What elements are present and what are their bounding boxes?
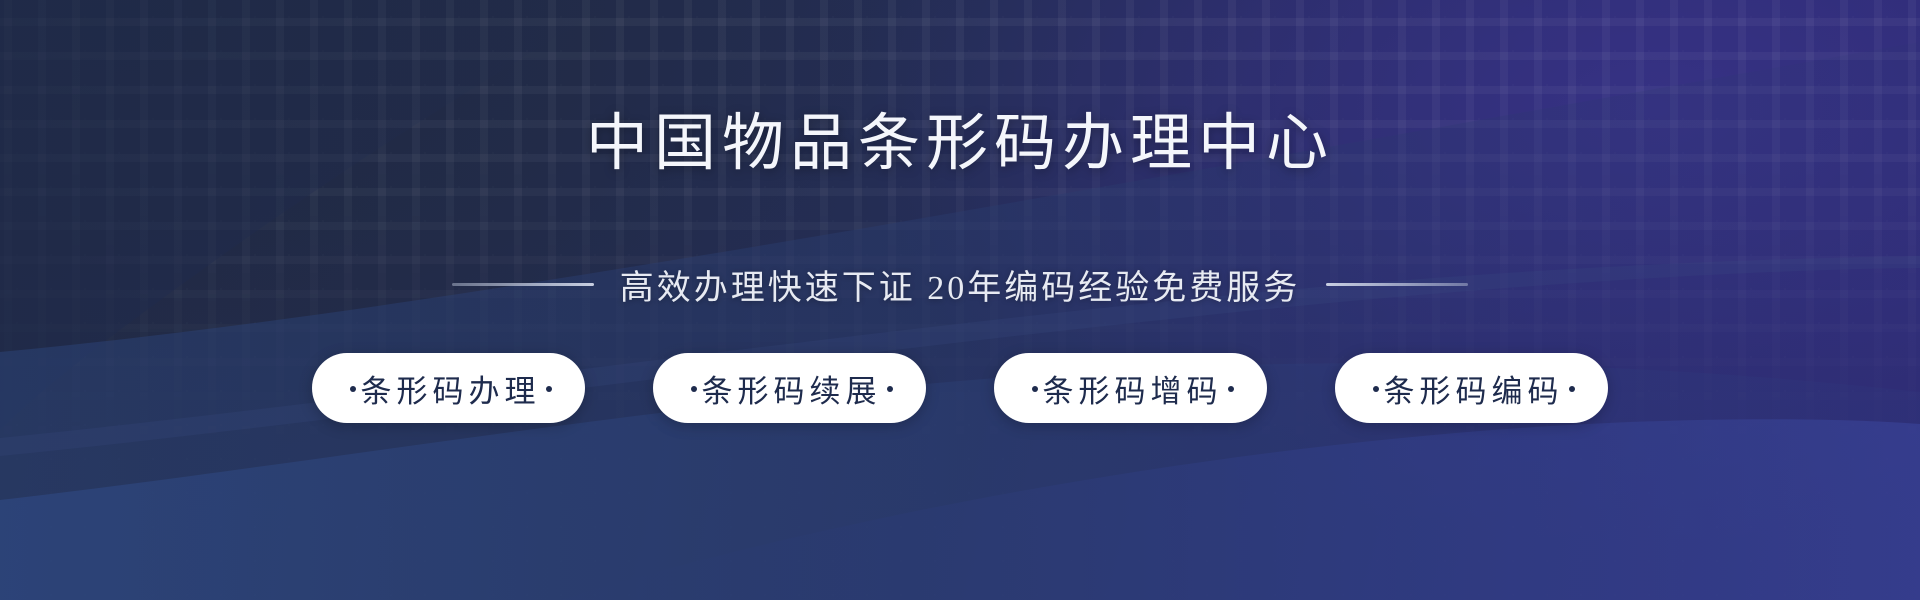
- bullet-dot-icon: [1032, 386, 1038, 392]
- banner-content: 中国物品条形码办理中心 高效办理快速下证 20年编码经验免费服务 条形码办理 条…: [0, 0, 1920, 600]
- service-pill-label: 条形码编码: [1384, 366, 1564, 411]
- pill-content: 条形码增码: [1025, 366, 1237, 411]
- divider-line-right: [1326, 283, 1468, 286]
- bullet-dot-icon: [887, 386, 893, 392]
- pill-content: 条形码编码: [1366, 366, 1578, 411]
- service-pill-label: 条形码续展: [702, 366, 882, 411]
- service-pill-barcode-add[interactable]: 条形码增码: [994, 353, 1267, 423]
- bullet-dot-icon: [1228, 386, 1234, 392]
- service-pill-barcode-apply[interactable]: 条形码办理: [312, 353, 585, 423]
- bullet-dot-icon: [1373, 386, 1379, 392]
- service-pill-label: 条形码办理: [361, 366, 541, 411]
- service-pill-barcode-encode[interactable]: 条形码编码: [1335, 353, 1608, 423]
- bullet-dot-icon: [350, 386, 356, 392]
- subtitle-row: 高效办理快速下证 20年编码经验免费服务: [452, 260, 1469, 309]
- service-pill-barcode-renew[interactable]: 条形码续展: [653, 353, 926, 423]
- page-title: 中国物品条形码办理中心: [586, 92, 1334, 182]
- bullet-dot-icon: [546, 386, 552, 392]
- pill-content: 条形码办理: [343, 366, 555, 411]
- bullet-dot-icon: [1569, 386, 1575, 392]
- service-pill-label: 条形码增码: [1043, 366, 1223, 411]
- pill-content: 条形码续展: [684, 366, 896, 411]
- hero-banner: 中国物品条形码办理中心 高效办理快速下证 20年编码经验免费服务 条形码办理 条…: [0, 0, 1920, 600]
- bullet-dot-icon: [691, 386, 697, 392]
- service-pill-group: 条形码办理 条形码续展 条形码增码: [312, 353, 1608, 423]
- divider-line-left: [452, 283, 594, 286]
- banner-subtitle: 高效办理快速下证 20年编码经验免费服务: [620, 260, 1301, 309]
